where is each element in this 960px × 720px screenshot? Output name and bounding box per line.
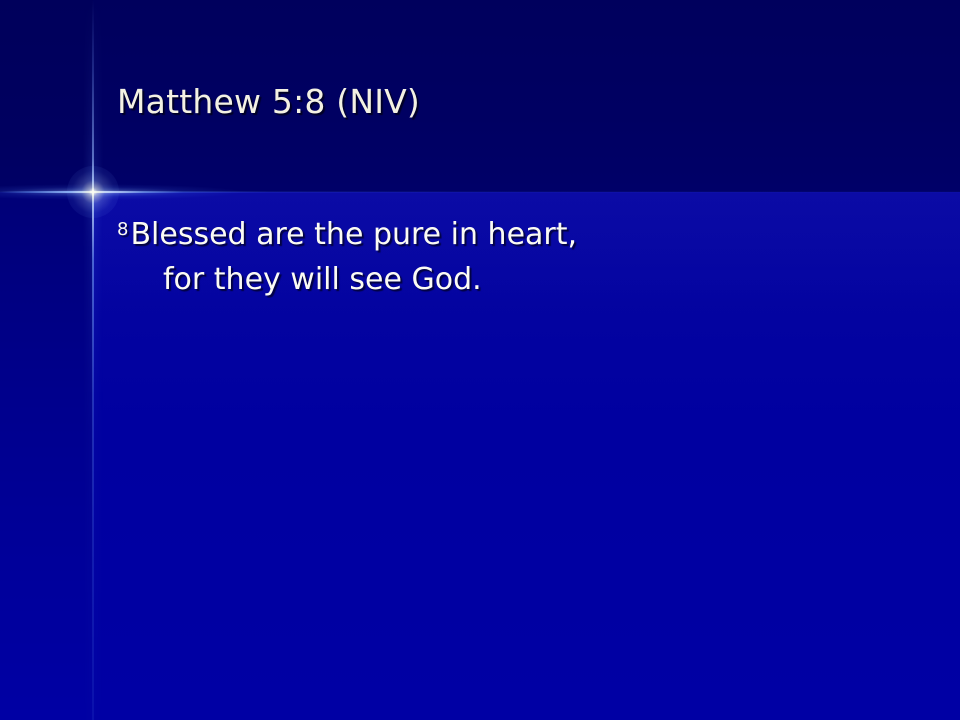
scripture-line-1-text: Blessed are the pure in heart, bbox=[130, 217, 577, 252]
slide-title-placeholder: Matthew 5:8 (NIV) bbox=[117, 84, 897, 121]
background-quadrant-bottom-left bbox=[0, 192, 93, 720]
slide-body-placeholder: 8Blessed are the pure in heart, for they… bbox=[117, 212, 917, 302]
cross-horizontal-line-icon bbox=[0, 191, 960, 193]
background-quadrant-top-left bbox=[0, 0, 93, 192]
presentation-slide: Matthew 5:8 (NIV) 8Blessed are the pure … bbox=[0, 0, 960, 720]
scripture-line-1: 8Blessed are the pure in heart, bbox=[117, 212, 917, 257]
slide-title: Matthew 5:8 (NIV) bbox=[117, 84, 897, 121]
cross-vertical-line-icon bbox=[92, 0, 94, 720]
verse-number: 8 bbox=[117, 219, 130, 240]
scripture-line-2: for they will see God. bbox=[117, 257, 917, 302]
